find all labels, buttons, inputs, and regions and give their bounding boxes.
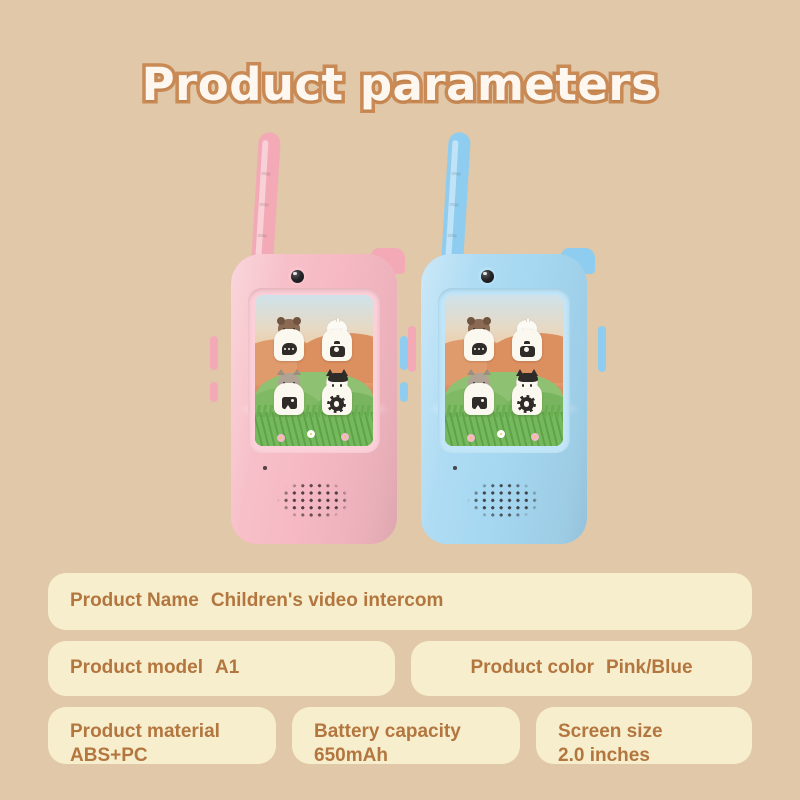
spec-label: Product model (70, 656, 203, 680)
app-grid (255, 295, 373, 446)
chat-icon (472, 343, 487, 355)
gear-icon (330, 397, 344, 411)
spec-row: Product model A1 Product color Pink/Blue (48, 641, 752, 696)
side-button-right[interactable] (598, 326, 606, 372)
camera-icon (330, 346, 345, 357)
app-icon-chat[interactable] (271, 319, 307, 361)
side-button-upper[interactable] (210, 336, 218, 370)
spec-value: ABS+PC (70, 744, 254, 768)
device-screen[interactable] (255, 295, 373, 446)
app-grid (445, 295, 563, 446)
app-icon-camera[interactable] (509, 319, 545, 361)
app-icon-settings[interactable] (319, 373, 355, 415)
app-icon-chat[interactable] (461, 319, 497, 361)
microphone-hole (263, 466, 267, 470)
camera-lens-icon (288, 267, 306, 285)
spec-product-material: Product material ABS+PC (48, 707, 276, 764)
gear-icon (520, 397, 534, 411)
spec-label: Battery capacity (314, 720, 498, 744)
microphone-hole (453, 466, 457, 470)
title-area: Product parameters (0, 58, 800, 111)
spec-value: Children's video intercom (211, 589, 444, 613)
device-screen[interactable] (445, 295, 563, 446)
spec-label: Product material (70, 720, 254, 744)
spec-value: A1 (215, 656, 239, 680)
spec-value: Pink/Blue (606, 656, 693, 680)
speaker-grille (457, 476, 551, 524)
photo-icon (472, 397, 487, 409)
side-button-upper[interactable] (400, 336, 408, 370)
spec-value: 2.0 inches (558, 744, 730, 768)
speaker-area (445, 466, 563, 528)
blue-walkie-talkie (403, 130, 603, 550)
side-button-lower[interactable] (400, 382, 408, 402)
spec-list: Product Name Children's video intercom P… (48, 573, 752, 775)
spec-product-color: Product color Pink/Blue (411, 641, 752, 696)
spec-product-model: Product model A1 (48, 641, 395, 696)
speaker-area (255, 466, 373, 528)
spec-value: 650mAh (314, 744, 498, 768)
spec-label: Product Name (70, 589, 199, 613)
pink-walkie-talkie (213, 130, 413, 550)
spec-battery-capacity: Battery capacity 650mAh (292, 707, 520, 764)
product-image-group (0, 130, 800, 560)
camera-lens-icon (478, 267, 496, 285)
speaker-grille (267, 476, 361, 524)
spec-row: Product material ABS+PC Battery capacity… (48, 707, 752, 764)
app-icon-photos[interactable] (461, 373, 497, 415)
photo-icon (282, 397, 297, 409)
spec-row: Product Name Children's video intercom (48, 573, 752, 630)
camera-icon (520, 346, 535, 357)
spec-label: Screen size (558, 720, 730, 744)
chat-icon (282, 343, 297, 355)
app-icon-camera[interactable] (319, 319, 355, 361)
page-title: Product parameters (142, 58, 659, 111)
app-icon-settings[interactable] (509, 373, 545, 415)
spec-product-name: Product Name Children's video intercom (48, 573, 752, 630)
app-icon-photos[interactable] (271, 373, 307, 415)
side-button-lower[interactable] (210, 382, 218, 402)
spec-screen-size: Screen size 2.0 inches (536, 707, 752, 764)
spec-label: Product color (470, 656, 594, 680)
